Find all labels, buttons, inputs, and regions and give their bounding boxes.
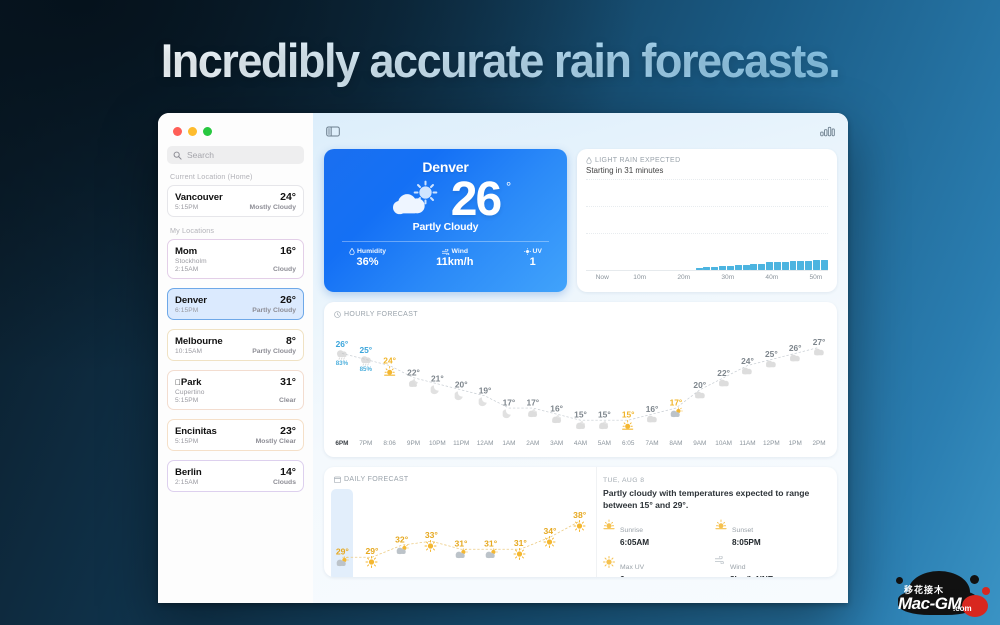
- daily-temp-label: 38°: [573, 510, 586, 520]
- hourly-axis-label: 8AM: [669, 440, 682, 447]
- cloud-night-icon: [526, 408, 539, 419]
- location-condition: Clear: [279, 397, 296, 404]
- hero-stat-humidity: Humidity36%: [349, 248, 386, 268]
- location-name: Berlin: [175, 467, 202, 478]
- hero-temperature: 26 °: [451, 176, 500, 224]
- location-time: 2:15AM: [175, 479, 198, 486]
- hourly-temp-label: 24°: [741, 356, 754, 366]
- rain-bar: [797, 261, 804, 270]
- hourly-axis-label: 3AM: [550, 440, 563, 447]
- sunset-icon: [715, 519, 727, 530]
- sidebar: Search Current Location (Home)Vancouver2…: [158, 113, 313, 603]
- rain-icon: [335, 349, 348, 360]
- location-temp: 26°: [280, 294, 296, 306]
- daily-point: 31°: [484, 539, 497, 560]
- sun-icon: [365, 556, 378, 568]
- search-input[interactable]: Search: [167, 146, 304, 164]
- toolbar: [313, 113, 848, 149]
- hourly-axis-label: 12PM: [763, 440, 780, 447]
- hourly-point: 22°: [717, 368, 730, 388]
- hourly-temp-label: 25°: [765, 349, 778, 359]
- hourly-temp-label: 22°: [407, 367, 420, 377]
- hourly-point: 24°: [383, 355, 396, 376]
- partly-sun-icon: [669, 408, 682, 419]
- hourly-point: 21°: [431, 373, 444, 394]
- location-condition: Mostly Cloudy: [250, 204, 296, 211]
- daily-detail-key: Max UV: [620, 564, 644, 571]
- daily-temp-label: 31°: [455, 539, 468, 549]
- hourly-axis-label: 6:05: [622, 440, 634, 447]
- daily-temp-label: 33°: [425, 530, 438, 540]
- humidity-icon: [349, 248, 355, 255]
- location-temp: 14°: [280, 466, 296, 478]
- location-name: Park: [175, 377, 201, 388]
- moon-icon: [479, 395, 492, 406]
- rain-axis-label: 30m: [721, 274, 734, 281]
- sidebar-item-encinitas[interactable]: Encinitas23°5:15PMMostly Clear: [167, 419, 304, 451]
- rain-axis-label: 50m: [809, 274, 822, 281]
- location-time: 10:15AM: [175, 348, 202, 355]
- rain-bar: [782, 262, 789, 270]
- hourly-temp-label: 17°: [669, 398, 682, 408]
- hourly-temp-label: 20°: [693, 380, 706, 390]
- search-icon: [173, 151, 182, 160]
- hourly-temp-label: 26°: [335, 339, 348, 349]
- hourly-axis-label: 2PM: [812, 440, 825, 447]
- location-condition: Partly Cloudy: [252, 307, 296, 314]
- cloud-icon: [765, 359, 778, 369]
- daily-date: TUE, AUG 8: [603, 477, 827, 484]
- hourly-point: 25°85%: [359, 345, 372, 373]
- rain-axis-label: 20m: [677, 274, 690, 281]
- daily-temp-label: 29°: [365, 546, 378, 556]
- hourly-point: 15°: [598, 410, 611, 431]
- daily-point: 29°: [336, 547, 349, 568]
- daily-point: 33°: [425, 530, 438, 552]
- sunset-icon: [383, 365, 396, 376]
- hourly-point: 27°: [813, 337, 826, 357]
- daily-detail-value: 6:05AM: [620, 538, 649, 547]
- uv-icon: [603, 556, 615, 568]
- top-panels: Denver: [313, 149, 848, 292]
- hourly-axis-label: 6PM: [335, 440, 348, 447]
- cloud-icon: [741, 366, 754, 376]
- sunrise-icon: [622, 420, 635, 431]
- location-temp: 16°: [280, 245, 296, 257]
- daily-detail-max-uv: Max UV6: [603, 556, 715, 577]
- daily-detail-sunset: Sunset8:05PM: [715, 519, 827, 547]
- moon-icon: [455, 389, 468, 400]
- app-window: Search Current Location (Home)Vancouver2…: [158, 113, 848, 603]
- hourly-point: 15°: [574, 410, 587, 431]
- page-title: Incredibly accurate rain forecasts.: [20, 33, 980, 88]
- current-weather-card[interactable]: Denver: [324, 149, 567, 292]
- hourly-axis-label: 10PM: [429, 440, 446, 447]
- hourly-temp-label: 17°: [526, 398, 539, 408]
- minimize-button[interactable]: [188, 127, 197, 136]
- location-condition: Mostly Clear: [256, 438, 296, 445]
- partly-night-icon: [407, 377, 420, 388]
- hourly-temp-label: 25°: [359, 345, 372, 355]
- hourly-title-row: HOURLY FORECAST: [334, 311, 827, 318]
- location-name: Melbourne: [175, 336, 223, 347]
- location-time: 5:15PM: [175, 204, 198, 211]
- hourly-point: 20°: [693, 380, 706, 400]
- hourly-point: 17°: [503, 398, 516, 419]
- wind-icon: [715, 556, 725, 564]
- hourly-temp-label: 17°: [503, 398, 516, 408]
- bar-chart-icon[interactable]: [820, 125, 835, 137]
- zoom-button[interactable]: [203, 127, 212, 136]
- hourly-point: 26°83%: [335, 339, 348, 367]
- hourly-axis-label: 11AM: [739, 440, 755, 447]
- hourly-axis-label: 9AM: [693, 440, 706, 447]
- daily-detail-key: Sunset: [732, 527, 753, 534]
- hourly-precip: 85%: [359, 366, 372, 373]
- hourly-point: 17°: [669, 398, 682, 419]
- sidebar-item-mom[interactable]: Mom16°Stockholm2:15AMCloudy: [167, 239, 304, 279]
- rain-forecast-card[interactable]: LIGHT RAIN EXPECTED Starting in 31 minut…: [577, 149, 837, 292]
- location-name: Vancouver: [175, 192, 223, 203]
- cloud-night-icon: [550, 414, 563, 425]
- sun-icon: [425, 540, 438, 552]
- hourly-axis-label: 11PM: [453, 440, 469, 447]
- hero-divider: [342, 241, 549, 242]
- location-time: 2:15AM: [175, 266, 198, 273]
- calendar-icon: [334, 476, 341, 483]
- rain-bars: [586, 257, 828, 270]
- window-controls[interactable]: [167, 113, 304, 145]
- daily-detail-key: Sunrise: [620, 527, 643, 534]
- hourly-point: 20°: [455, 379, 468, 400]
- hourly-temp-label: 16°: [550, 404, 563, 414]
- rain-bar: [790, 261, 797, 270]
- partly-sun-icon: [455, 549, 468, 560]
- hourly-axis: 6PM7PM8:069PM10PM11PM12AM1AM2AM3AM4AM5AM…: [332, 440, 829, 452]
- hourly-temp-label: 20°: [455, 379, 468, 389]
- partly-sun-icon: [484, 549, 497, 560]
- rain-title: LIGHT RAIN EXPECTED: [595, 157, 680, 164]
- sunrise-icon: [603, 519, 615, 530]
- rain-bar: [821, 260, 828, 270]
- daily-temp-label: 34°: [544, 526, 557, 536]
- daily-detail-sunrise: Sunrise6:05AM: [603, 519, 715, 547]
- daily-temp-label: 31°: [484, 539, 497, 549]
- hourly-temp-label: 27°: [813, 337, 826, 347]
- sidebar-group-title: Current Location (Home): [170, 172, 304, 181]
- hourly-axis-label: 4AM: [574, 440, 587, 447]
- rain-bar: [774, 262, 781, 270]
- rain-axis-label: Now: [596, 274, 609, 281]
- location-condition: Cloudy: [273, 266, 296, 273]
- hourly-temp-label: 15°: [622, 410, 635, 420]
- sidebar-toggle-icon[interactable]: [326, 126, 340, 137]
- daily-detail-pane: TUE, AUG 8 Partly cloudy with temperatur…: [596, 467, 837, 577]
- daily-detail-key: Wind: [730, 564, 746, 571]
- rain-bar: [813, 260, 820, 270]
- hourly-temp-label: 19°: [479, 385, 492, 395]
- location-temp: 8°: [286, 335, 296, 347]
- hero-condition: Partly Cloudy: [324, 221, 567, 233]
- search-placeholder: Search: [187, 150, 214, 160]
- daily-point: 29°: [365, 546, 378, 568]
- daily-chart-pane: DAILY FORECAST 29°29°32°33°31°31°31°34°3…: [324, 467, 596, 577]
- daily-temp-label: 29°: [336, 547, 349, 557]
- hourly-point: 16°: [646, 404, 659, 424]
- sidebar-group-title: My Locations: [170, 226, 304, 235]
- rain-subtitle: Starting in 31 minutes: [586, 166, 828, 175]
- hourly-temp-label: 21°: [431, 373, 444, 383]
- wind-icon: [442, 249, 450, 255]
- hourly-point: 25°: [765, 349, 778, 369]
- droplet-icon: [586, 157, 592, 164]
- sun-icon: [573, 520, 586, 532]
- hourly-point: 15°: [622, 410, 635, 431]
- daily-point: 38°: [573, 510, 586, 532]
- daily-temp-label: 31°: [514, 538, 527, 548]
- hero-stat-value: 1: [524, 256, 542, 268]
- hero-stat-value: 11km/h: [436, 256, 473, 268]
- main-content: Denver: [313, 113, 848, 603]
- rain-bar: [805, 261, 812, 270]
- hourly-axis-label: 10AM: [715, 440, 732, 447]
- hourly-title: HOURLY FORECAST: [344, 311, 418, 318]
- hourly-axis-label: 1PM: [789, 440, 802, 447]
- hourly-temp-label: 15°: [574, 410, 587, 420]
- sun-icon: [544, 536, 557, 548]
- cloud-night-icon: [598, 420, 611, 431]
- hourly-point: 16°: [550, 404, 563, 425]
- location-region: Stockholm: [175, 258, 296, 265]
- hero-temp-value: 26: [451, 173, 500, 226]
- watermark-tld: .com: [953, 604, 972, 613]
- hourly-axis-label: 7PM: [359, 440, 372, 447]
- hourly-axis-label: 12AM: [477, 440, 494, 447]
- rain-gridlines: [586, 179, 828, 261]
- daily-detail-value: 8:05PM: [732, 538, 761, 547]
- daily-forecast-card[interactable]: DAILY FORECAST 29°29°32°33°31°31°31°34°3…: [324, 467, 837, 577]
- daily-points: 29°29°32°33°31°31°31°34°38°: [332, 493, 590, 577]
- partly-sun-icon: [395, 545, 408, 556]
- sidebar-item-denver[interactable]: Denver26°6:15PMPartly Cloudy: [167, 288, 304, 320]
- daily-detail-value: 6: [620, 575, 644, 577]
- cloud-icon: [813, 347, 826, 357]
- location-time: 5:15PM: [175, 397, 198, 404]
- rain-baseline: [586, 270, 828, 271]
- hourly-point: 17°: [526, 398, 539, 419]
- hourly-point: 22°: [407, 367, 420, 388]
- location-condition: Partly Cloudy: [252, 348, 296, 355]
- rain-icon: [359, 355, 372, 366]
- hero-stat-value: 36%: [349, 256, 386, 268]
- daily-detail-value: 8km/h NNE: [730, 575, 773, 577]
- hero-stat-label: UV: [533, 248, 542, 255]
- close-button[interactable]: [173, 127, 182, 136]
- rain-title-row: LIGHT RAIN EXPECTED: [586, 157, 828, 164]
- hourly-axis-label: 9PM: [407, 440, 420, 447]
- hourly-forecast-card[interactable]: HOURLY FORECAST 26°83%25°85%24°22°21°20°…: [324, 302, 837, 457]
- daily-point: 31°: [514, 538, 527, 560]
- hero-city: Denver: [324, 149, 567, 175]
- rain-axis: Now10m20m30m40m50m: [586, 274, 828, 286]
- cloud-night-icon: [574, 420, 587, 431]
- hourly-precip: 83%: [335, 360, 348, 367]
- sidebar-item-melbourne[interactable]: Melbourne8°10:15AMPartly Cloudy: [167, 329, 304, 361]
- location-name: Encinitas: [175, 426, 217, 437]
- location-name: Mom: [175, 246, 197, 257]
- uv-icon: [524, 248, 531, 255]
- hero-degree-symbol: °: [506, 179, 511, 194]
- hourly-axis-label: 2AM: [526, 440, 539, 447]
- rain-axis-label: 40m: [765, 274, 778, 281]
- partly-sun-icon: [336, 557, 349, 568]
- hourly-axis-label: 7AM: [645, 440, 658, 447]
- cloud-icon: [693, 390, 706, 400]
- clock-icon: [334, 311, 341, 318]
- sidebar-item-vancouver[interactable]: Vancouver24°5:15PMMostly Cloudy: [167, 185, 304, 217]
- hourly-temp-label: 22°: [717, 368, 730, 378]
- hourly-point: 19°: [479, 385, 492, 406]
- watermark-brand: Mac-GM: [898, 594, 961, 614]
- hero-stats: Humidity36%Wind11km/hUV1: [324, 248, 567, 268]
- moon-icon: [431, 383, 444, 394]
- cloud-icon: [646, 414, 659, 424]
- hourly-point: 24°: [741, 356, 754, 376]
- location-time: 5:15PM: [175, 438, 198, 445]
- hourly-point: 26°: [789, 343, 802, 363]
- apple-logo-icon: : [175, 378, 181, 387]
- moon-icon: [503, 408, 516, 419]
- hourly-temp-label: 15°: [598, 410, 611, 420]
- daily-title-row: DAILY FORECAST: [334, 476, 596, 483]
- daily-detail-wind: Wind8km/h NNE: [715, 556, 827, 577]
- hourly-temp-label: 26°: [789, 343, 802, 353]
- hero-stat-label: Humidity: [357, 248, 386, 255]
- daily-title: DAILY FORECAST: [344, 476, 409, 483]
- hourly-axis-label: 5AM: [598, 440, 611, 447]
- sidebar-item-berlin[interactable]: Berlin14°2:15AMClouds: [167, 460, 304, 492]
- rain-axis-label: 10m: [633, 274, 646, 281]
- cloud-icon: [789, 353, 802, 363]
- daily-point: 34°: [544, 526, 557, 548]
- daily-summary: Partly cloudy with temperatures expected…: [603, 487, 827, 511]
- location-time: 6:15PM: [175, 307, 198, 314]
- location-region: Cupertino: [175, 389, 296, 396]
- daily-temp-label: 32°: [395, 535, 408, 545]
- sidebar-item-park[interactable]: Park31°Cupertino5:15PMClear: [167, 370, 304, 410]
- hourly-axis-label: 1AM: [502, 440, 515, 447]
- hourly-points: 26°83%25°85%24°22°21°20°19°17°17°16°15°1…: [332, 326, 829, 435]
- daily-point: 32°: [395, 535, 408, 556]
- hero-stat-wind: Wind11km/h: [436, 248, 473, 268]
- hourly-temp-label: 16°: [646, 404, 659, 414]
- location-temp: 23°: [280, 425, 296, 437]
- location-temp: 24°: [280, 191, 296, 203]
- location-condition: Clouds: [273, 479, 296, 486]
- partly-cloudy-icon: [391, 180, 445, 220]
- cloud-icon: [717, 378, 730, 388]
- watermark: 移花接木 Mac-GM .com: [890, 563, 994, 621]
- hero-stat-uv: UV1: [524, 248, 542, 268]
- location-temp: 31°: [280, 376, 296, 388]
- hourly-temp-label: 24°: [383, 355, 396, 365]
- sun-icon: [514, 548, 527, 560]
- hero-stat-label: Wind: [452, 248, 469, 255]
- daily-detail-items: Sunrise6:05AMSunset8:05PMMax UV6Wind8km/…: [603, 519, 827, 577]
- hourly-axis-label: 8:06: [383, 440, 395, 447]
- daily-point: 31°: [455, 539, 468, 560]
- rain-bar: [766, 262, 773, 270]
- location-name: Denver: [175, 295, 207, 306]
